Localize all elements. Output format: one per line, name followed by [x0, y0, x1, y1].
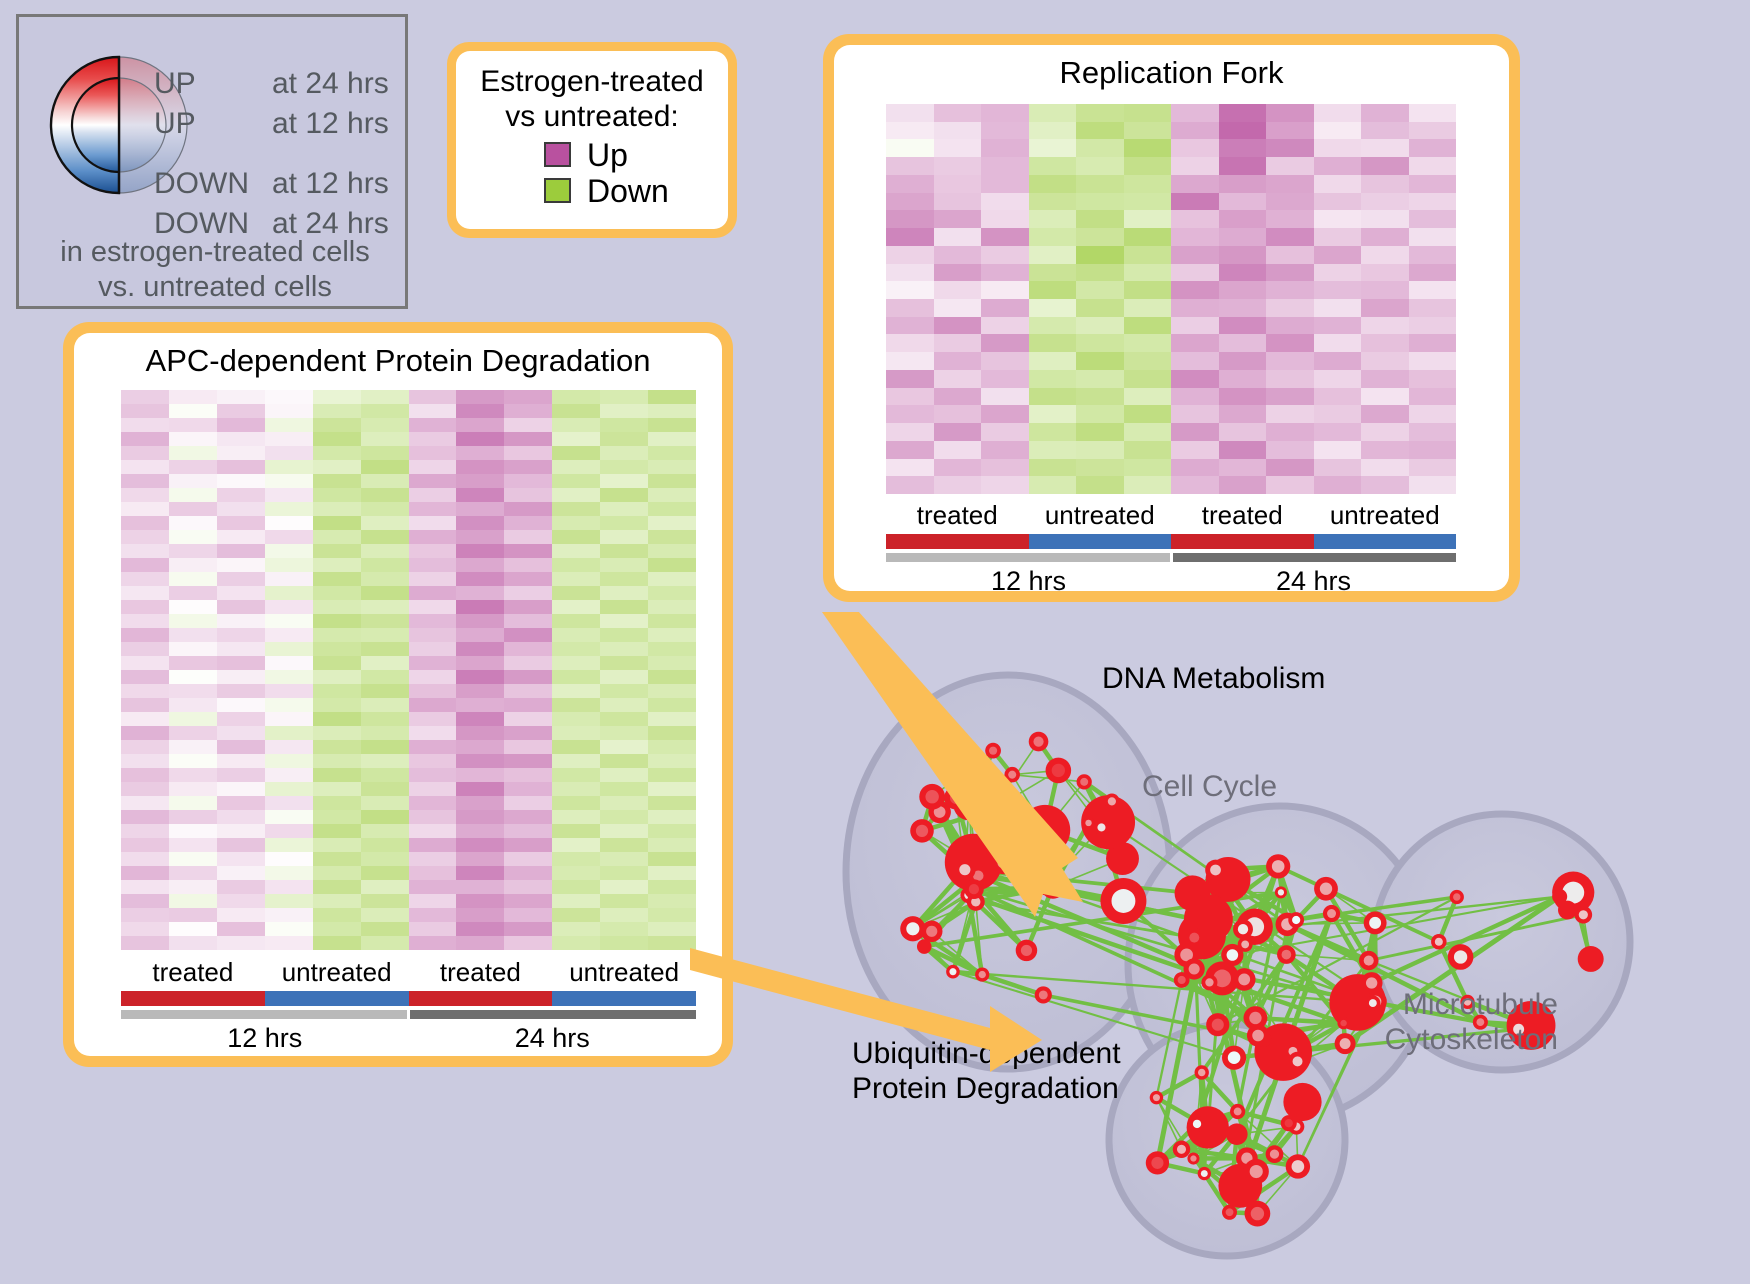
heatmap-cell: [1029, 264, 1077, 282]
heatmap-cell: [981, 352, 1029, 370]
heatmap-cell: [1266, 405, 1314, 423]
heatmap-cell: [217, 502, 265, 516]
heatmap-cell: [504, 404, 552, 418]
network-node-core: [1272, 860, 1285, 873]
heatmap-cell: [600, 768, 648, 782]
heatmap-cell: [552, 586, 600, 600]
heatmap-cell: [1124, 405, 1172, 423]
heatmap-cell: [600, 404, 648, 418]
color-legend-footer-line2: vs. untreated cells: [19, 270, 411, 305]
heatmap-cell: [217, 684, 265, 698]
network-node[interactable]: [1046, 758, 1072, 784]
heatmap-cell: [265, 824, 313, 838]
group-label: untreated: [552, 957, 696, 988]
network-node[interactable]: [1020, 805, 1070, 855]
heatmap-cell: [600, 474, 648, 488]
heatmap-cell: [409, 474, 457, 488]
network-node-core: [1052, 764, 1065, 777]
replication-fork-panel-inner: Replication Fork treateduntreatedtreated…: [834, 45, 1509, 591]
heatmap-cell: [1076, 352, 1124, 370]
heatmap-cell: [121, 838, 169, 852]
heatmap-cell: [265, 698, 313, 712]
heatmap-cell: [934, 334, 982, 352]
heatmap-cell: [886, 334, 934, 352]
network-node[interactable]: [1359, 951, 1378, 970]
heatmap-cell: [552, 432, 600, 446]
network-node[interactable]: [954, 859, 975, 880]
heatmap-cell: [504, 684, 552, 698]
heatmap-cell: [409, 642, 457, 656]
network-node[interactable]: [1016, 940, 1038, 962]
network-node-core: [969, 884, 979, 894]
heatmap-cell: [1361, 352, 1409, 370]
heatmap-cell: [1266, 370, 1314, 388]
heatmap-cell: [552, 922, 600, 936]
network-node[interactable]: [1205, 860, 1226, 881]
heatmap-cell: [313, 446, 361, 460]
heatmap-cell: [504, 642, 552, 656]
heatmap-cell: [1361, 193, 1409, 211]
network-node[interactable]: [1230, 1104, 1245, 1119]
heatmap-cell: [648, 502, 696, 516]
heatmap-cell: [313, 572, 361, 586]
heatmap-cell: [265, 852, 313, 866]
heatmap-cell: [934, 423, 982, 441]
heatmap-cell: [886, 175, 934, 193]
heatmap-cell: [1266, 459, 1314, 477]
heatmap-cell: [934, 139, 982, 157]
treatment-bar-segment: [552, 991, 696, 1006]
heatmap-cell: [648, 740, 696, 754]
heatmap-cell: [934, 352, 982, 370]
heatmap-cell: [313, 768, 361, 782]
heatmap-cell: [217, 488, 265, 502]
heatmap-cell: [886, 122, 934, 140]
network-node-core: [925, 790, 938, 803]
heatmap-cell: [409, 516, 457, 530]
network-node[interactable]: [1337, 1017, 1349, 1029]
heatmap-cell: [886, 139, 934, 157]
heatmap-cell: [886, 459, 934, 477]
cluster-label-cell-cycle: Cell Cycle: [1142, 770, 1277, 805]
network-node[interactable]: [1221, 944, 1243, 966]
heatmap-cell: [1219, 441, 1267, 459]
network-node[interactable]: [1281, 1115, 1297, 1131]
heatmap-cell: [600, 656, 648, 670]
network-node[interactable]: [1222, 1046, 1246, 1070]
network-node[interactable]: [1552, 889, 1567, 904]
heatmap-cell: [217, 530, 265, 544]
heatmap-cell: [265, 600, 313, 614]
heatmap-cell: [1266, 299, 1314, 317]
treatment-bar-segment: [1314, 534, 1457, 549]
network-node[interactable]: [1323, 905, 1340, 922]
heatmap-cell: [1409, 476, 1457, 494]
heatmap-cell: [886, 104, 934, 122]
network-node[interactable]: [964, 879, 984, 899]
heatmap-cell: [648, 698, 696, 712]
heatmap-cell: [409, 838, 457, 852]
heatmap-cell: [217, 474, 265, 488]
network-node[interactable]: [1244, 1159, 1269, 1184]
network-node[interactable]: [1094, 820, 1110, 836]
network-node-core: [1238, 974, 1250, 986]
network-node[interactable]: [1364, 911, 1387, 934]
heatmap-cell: [409, 698, 457, 712]
heatmap-cell: [121, 544, 169, 558]
network-node[interactable]: [1150, 1091, 1163, 1104]
network-node-core: [1364, 956, 1374, 966]
heatmap-cell: [361, 880, 409, 894]
heatmap-cell: [1409, 246, 1457, 264]
network-node-ring: [1020, 805, 1070, 855]
replication-fork-title: Replication Fork: [834, 45, 1509, 91]
network-node[interactable]: [1029, 732, 1049, 752]
network-node[interactable]: [1266, 1145, 1284, 1163]
heatmap-cell: [504, 768, 552, 782]
group-label: untreated: [1029, 500, 1172, 531]
apc-degradation-title: APC-dependent Protein Degradation: [74, 333, 722, 379]
heatmap-cell: [1409, 175, 1457, 193]
heatmap-cell: [1124, 122, 1172, 140]
heatmap-cell: [456, 908, 504, 922]
time-bar-segment: [886, 553, 1170, 562]
heatmap-cell: [1314, 370, 1362, 388]
heatmap-cell: [361, 712, 409, 726]
network-node[interactable]: [1206, 1013, 1229, 1036]
network-node[interactable]: [1575, 906, 1593, 924]
heatmap-cell: [409, 670, 457, 684]
heatmap-cell: [1314, 210, 1362, 228]
heatmap-cell: [169, 754, 217, 768]
heatmap-cell: [934, 299, 982, 317]
heatmap-cell: [981, 104, 1029, 122]
heatmap-cell: [1314, 388, 1362, 406]
apc-degradation-time-labels: 12 hrs24 hrs: [121, 1023, 696, 1054]
heatmap-cell: [409, 418, 457, 432]
heatmap-cell: [934, 388, 982, 406]
heatmap-cell: [456, 586, 504, 600]
network-node[interactable]: [985, 743, 1001, 759]
heatmap-cell: [217, 824, 265, 838]
heatmap-cell: [313, 880, 361, 894]
heatmap-cell: [121, 530, 169, 544]
network-node[interactable]: [1187, 1153, 1199, 1165]
heatmap-cell: [217, 768, 265, 782]
network-node[interactable]: [1222, 1205, 1237, 1220]
network-node[interactable]: [1266, 854, 1290, 878]
heatmap-cell: [361, 460, 409, 474]
heatmap-cell: [1171, 139, 1219, 157]
down-color-swatch: [544, 178, 571, 203]
heatmap-cell: [409, 810, 457, 824]
heatmap-cell: [552, 684, 600, 698]
updown-legend-inner: Estrogen-treated vs untreated: Up Down: [456, 51, 728, 229]
heatmap-cell: [648, 460, 696, 474]
heatmap-cell: [600, 516, 648, 530]
network-node[interactable]: [946, 965, 960, 979]
network-node[interactable]: [1077, 774, 1092, 789]
time-bar-segment: [1173, 553, 1457, 562]
network-node[interactable]: [1082, 817, 1094, 829]
heatmap-cell: [552, 404, 600, 418]
heatmap-cell: [600, 558, 648, 572]
heatmap-cell: [361, 502, 409, 516]
network-node[interactable]: [992, 850, 1016, 874]
heatmap-cell: [1266, 476, 1314, 494]
network-node-core: [1097, 823, 1105, 831]
legend-time: at 24 hrs: [272, 69, 389, 99]
heatmap-cell: [313, 488, 361, 502]
time-bar-segment: [121, 1010, 407, 1019]
heatmap-cell: [265, 460, 313, 474]
network-node[interactable]: [919, 784, 945, 810]
heatmap-cell: [1076, 423, 1124, 441]
heatmap-cell: [981, 459, 1029, 477]
heatmap-cell: [648, 418, 696, 432]
network-node[interactable]: [1146, 1151, 1169, 1174]
heatmap-cell: [409, 446, 457, 460]
network-node[interactable]: [1288, 912, 1304, 928]
network-node-core: [1282, 950, 1292, 960]
network-node[interactable]: [975, 967, 989, 981]
network-node[interactable]: [1038, 881, 1052, 895]
network-node[interactable]: [1100, 878, 1146, 924]
heatmap-cell: [648, 866, 696, 880]
heatmap-cell: [886, 281, 934, 299]
heatmap-cell: [121, 404, 169, 418]
heatmap-cell: [552, 390, 600, 404]
network-node[interactable]: [900, 916, 925, 941]
heatmap-cell: [1124, 317, 1172, 335]
network-node[interactable]: [1226, 1123, 1248, 1145]
heatmap-cell: [361, 852, 409, 866]
heatmap-cell: [313, 740, 361, 754]
heatmap-cell: [456, 600, 504, 614]
heatmap-cell: [1029, 193, 1077, 211]
heatmap-cell: [504, 502, 552, 516]
heatmap-cell: [169, 600, 217, 614]
heatmap-cell: [169, 516, 217, 530]
network-node-core: [989, 747, 997, 755]
heatmap-cell: [552, 768, 600, 782]
replication-fork-treatment-bar: [886, 534, 1456, 549]
heatmap-cell: [456, 670, 504, 684]
heatmap-cell: [1029, 405, 1077, 423]
heatmap-cell: [169, 488, 217, 502]
heatmap-cell: [121, 894, 169, 908]
heatmap-cell: [1219, 210, 1267, 228]
network-node[interactable]: [1314, 877, 1338, 901]
apc-degradation-panel-inner: APC-dependent Protein Degradation treate…: [74, 333, 722, 1056]
network-node-core: [916, 825, 928, 837]
network-node[interactable]: [1286, 1154, 1310, 1178]
heatmap-cell: [217, 404, 265, 418]
network-node[interactable]: [1189, 1116, 1205, 1132]
heatmap-cell: [265, 908, 313, 922]
heatmap-cell: [648, 404, 696, 418]
heatmap-cell: [981, 388, 1029, 406]
heatmap-cell: [313, 474, 361, 488]
heatmap-cell: [313, 600, 361, 614]
heatmap-cell: [1266, 228, 1314, 246]
heatmap-cell: [361, 866, 409, 880]
heatmap-cell: [1029, 246, 1077, 264]
network-node[interactable]: [1195, 1065, 1209, 1079]
network-node[interactable]: [1035, 986, 1052, 1003]
heatmap-cell: [313, 670, 361, 684]
network-node-core: [949, 968, 956, 975]
network-node[interactable]: [1201, 974, 1217, 990]
heatmap-cell: [981, 405, 1029, 423]
heatmap-cell: [169, 838, 217, 852]
network-node[interactable]: [1184, 958, 1205, 979]
heatmap-cell: [981, 299, 1029, 317]
network-node[interactable]: [1450, 890, 1464, 904]
heatmap-cell: [456, 614, 504, 628]
heatmap-cell: [504, 740, 552, 754]
network-node-core: [1226, 1208, 1234, 1216]
network-node[interactable]: [1004, 767, 1020, 783]
replication-fork-panel: Replication Fork treateduntreatedtreated…: [823, 34, 1520, 602]
heatmap-cell: [217, 908, 265, 922]
heatmap-cell: [121, 754, 169, 768]
heatmap-cell: [504, 908, 552, 922]
network-node-core: [1369, 999, 1377, 1007]
heatmap-cell: [1409, 157, 1457, 175]
network-node[interactable]: [1277, 945, 1296, 964]
heatmap-cell: [313, 656, 361, 670]
network-node[interactable]: [1173, 1141, 1191, 1159]
network-node[interactable]: [1245, 1201, 1271, 1227]
heatmap-cell: [361, 432, 409, 446]
heatmap-cell: [552, 642, 600, 656]
heatmap-cell: [504, 530, 552, 544]
heatmap-cell: [361, 922, 409, 936]
heatmap-cell: [552, 908, 600, 922]
network-node[interactable]: [1247, 1024, 1269, 1046]
heatmap-cell: [1219, 281, 1267, 299]
heatmap-cell: [552, 572, 600, 586]
heatmap-cell: [313, 418, 361, 432]
heatmap-cell: [600, 894, 648, 908]
heatmap-cell: [1124, 228, 1172, 246]
heatmap-cell: [1029, 175, 1077, 193]
heatmap-cell: [1409, 423, 1457, 441]
heatmap-cell: [1171, 388, 1219, 406]
heatmap-cell: [409, 404, 457, 418]
heatmap-cell: [886, 317, 934, 335]
heatmap-cell: [361, 586, 409, 600]
cluster-label-ubiquitin-line1: Ubiquitin-dependent: [852, 1037, 1121, 1072]
heatmap-cell: [600, 866, 648, 880]
heatmap-cell: [552, 446, 600, 460]
heatmap-cell: [121, 628, 169, 642]
heatmap-cell: [552, 502, 600, 516]
network-node-core: [926, 926, 937, 937]
network-node[interactable]: [1448, 944, 1474, 970]
legend-time: at 12 hrs: [272, 109, 389, 139]
network-node-core: [1193, 1120, 1201, 1128]
treatment-bar-segment: [886, 534, 1029, 549]
heatmap-cell: [552, 754, 600, 768]
heatmap-cell: [648, 726, 696, 740]
heatmap-cell: [1124, 370, 1172, 388]
heatmap-cell: [169, 768, 217, 782]
heatmap-cell: [981, 122, 1029, 140]
heatmap-cell: [1171, 352, 1219, 370]
network-node[interactable]: [1275, 886, 1287, 898]
heatmap-cell: [1219, 352, 1267, 370]
group-label: untreated: [265, 957, 409, 988]
heatmap-cell: [169, 418, 217, 432]
heatmap-cell: [934, 246, 982, 264]
heatmap-cell: [1171, 193, 1219, 211]
network-node[interactable]: [1335, 1033, 1356, 1054]
heatmap-cell: [313, 852, 361, 866]
network-node[interactable]: [1198, 1167, 1211, 1180]
network-node[interactable]: [1233, 968, 1256, 991]
network-node[interactable]: [910, 819, 934, 843]
heatmap-cell: [600, 572, 648, 586]
heatmap-cell: [361, 838, 409, 852]
heatmap-cell: [265, 838, 313, 852]
network-node[interactable]: [1288, 1052, 1307, 1071]
heatmap-cell: [600, 460, 648, 474]
network-node-ring: [1578, 946, 1604, 972]
heatmap-cell: [217, 432, 265, 446]
network-node[interactable]: [1185, 928, 1204, 947]
heatmap-cell: [313, 460, 361, 474]
network-node[interactable]: [1431, 934, 1446, 949]
heatmap-cell: [1124, 441, 1172, 459]
heatmap-cell: [600, 852, 648, 866]
heatmap-cell: [313, 866, 361, 880]
heatmap-cell: [1266, 441, 1314, 459]
network-node[interactable]: [1578, 946, 1604, 972]
heatmap-cell: [361, 908, 409, 922]
heatmap-cell: [552, 796, 600, 810]
heatmap-cell: [552, 460, 600, 474]
heatmap-cell: [361, 656, 409, 670]
heatmap-cell: [456, 544, 504, 558]
heatmap-cell: [1124, 210, 1172, 228]
heatmap-cell: [169, 908, 217, 922]
heatmap-cell: [456, 530, 504, 544]
heatmap-cell: [217, 852, 265, 866]
network-node[interactable]: [1233, 919, 1253, 939]
heatmap-cell: [121, 922, 169, 936]
heatmap-cell: [981, 175, 1029, 193]
heatmap-cell: [552, 488, 600, 502]
heatmap-cell: [1219, 104, 1267, 122]
heatmap-cell: [648, 558, 696, 572]
heatmap-cell: [886, 423, 934, 441]
network-node-core: [1241, 941, 1249, 949]
network-node[interactable]: [980, 798, 1003, 821]
heatmap-cell: [456, 446, 504, 460]
heatmap-cell: [1124, 352, 1172, 370]
heatmap-cell: [552, 614, 600, 628]
heatmap-cell: [886, 476, 934, 494]
heatmap-cell: [361, 698, 409, 712]
heatmap-cell: [456, 656, 504, 670]
heatmap-cell: [1361, 122, 1409, 140]
network-node[interactable]: [1104, 794, 1120, 810]
heatmap-cell: [1076, 476, 1124, 494]
heatmap-cell: [600, 782, 648, 796]
heatmap-cell: [1219, 246, 1267, 264]
